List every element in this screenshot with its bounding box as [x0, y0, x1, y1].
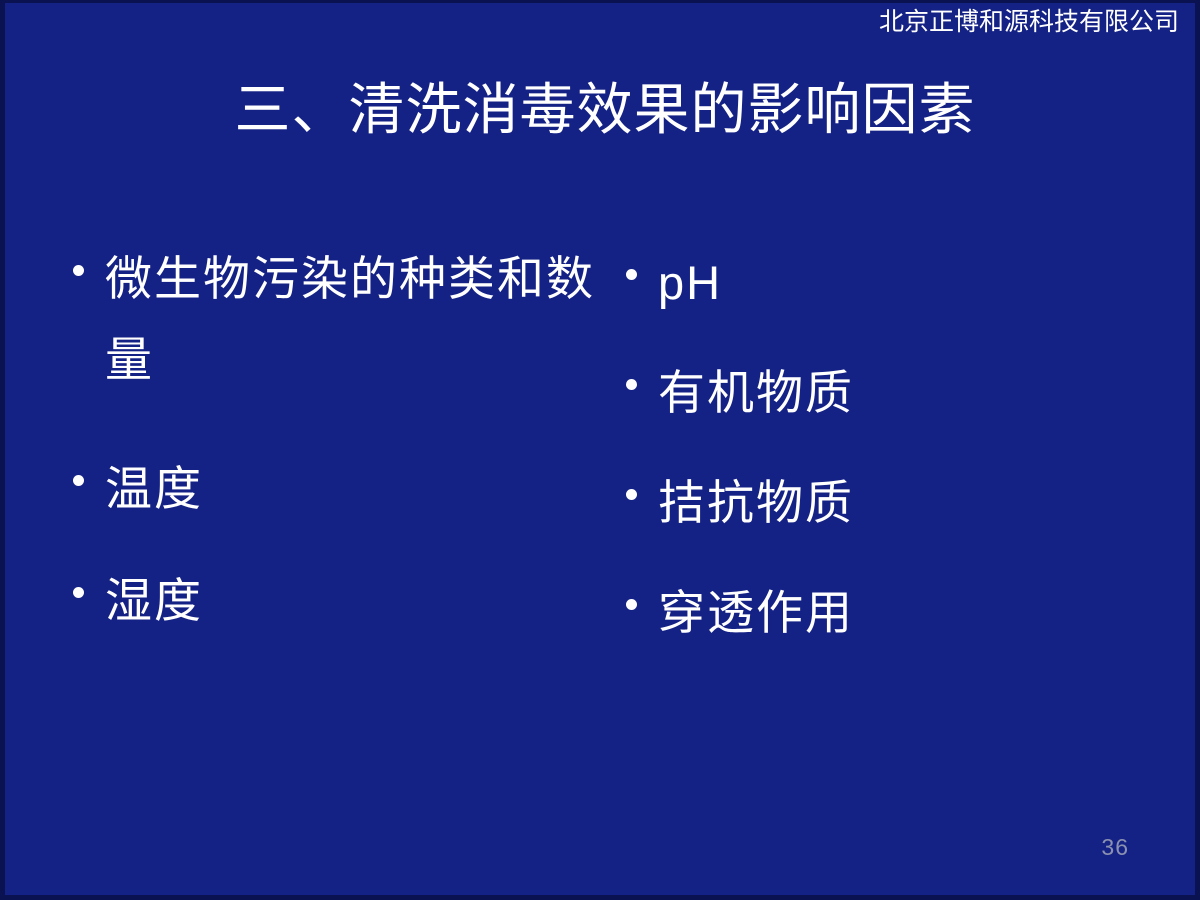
slide-canvas: 北京正博和源科技有限公司 三、清洗消毒效果的影响因素 微生物污染的种类和数量 温…: [0, 0, 1200, 900]
list-item-label: pH: [658, 243, 1140, 324]
bullet-dot-icon: [67, 449, 105, 507]
bullet-dot-icon: [620, 353, 658, 411]
list-item: 湿度: [67, 561, 597, 642]
list-item-label: 穿透作用: [658, 573, 1140, 654]
bullet-dot-icon: [620, 573, 658, 631]
bullet-dot-icon: [620, 243, 658, 301]
bullet-dot-icon: [620, 463, 658, 521]
bullet-dot-icon: [67, 561, 105, 619]
list-item: 有机物质: [620, 353, 1140, 434]
content-columns: 微生物污染的种类和数量 温度 湿度 pH 有机物质 拮抗: [5, 231, 1200, 691]
list-item-label: 有机物质: [658, 353, 1140, 434]
list-item-label: 微生物污染的种类和数量: [105, 239, 597, 401]
list-item-label: 湿度: [105, 561, 597, 642]
page-number: 36: [1101, 836, 1129, 859]
slide-title: 三、清洗消毒效果的影响因素: [5, 79, 1200, 142]
list-item-label: 拮抗物质: [658, 463, 1140, 544]
list-item: pH: [620, 243, 1140, 324]
list-item: 微生物污染的种类和数量: [67, 239, 597, 401]
list-item: 穿透作用: [620, 573, 1140, 654]
list-item-label: 温度: [105, 449, 597, 530]
bullet-dot-icon: [67, 239, 105, 297]
list-item: 温度: [67, 449, 597, 530]
company-name-header: 北京正博和源科技有限公司: [879, 9, 1179, 37]
list-item: 拮抗物质: [620, 463, 1140, 544]
